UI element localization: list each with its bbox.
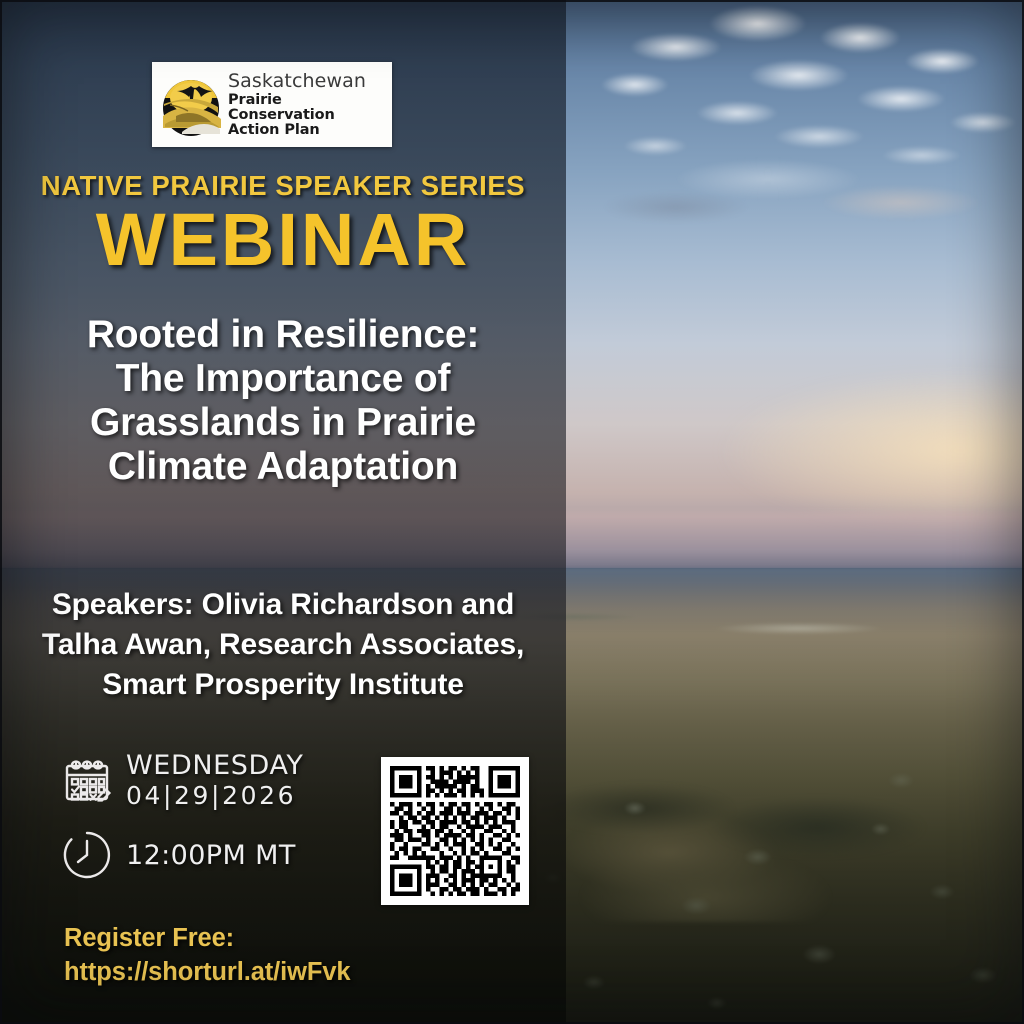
qr-code[interactable] — [381, 757, 529, 905]
calendar-icon — [62, 756, 112, 806]
title-line-1: Rooted in Resilience: — [24, 313, 542, 357]
webinar-poster: Saskatchewan Prairie Conservation Action… — [0, 0, 1024, 1024]
clock-icon — [62, 830, 112, 880]
time-row: 12:00PM MT — [62, 830, 304, 880]
logo-line-saskatchewan: Saskatchewan — [228, 72, 386, 91]
logo-wordmark: Saskatchewan Prairie Conservation Action… — [228, 72, 386, 138]
sun-glow — [717, 369, 1024, 533]
register-url[interactable]: https://shorturl.at/iwFvk — [64, 956, 351, 990]
speakers-line-1: Speakers: Olivia Richardson and — [20, 585, 546, 625]
date-text: WEDNESDAY 04|29|2026 — [126, 752, 304, 810]
registration-block[interactable]: Register Free: https://shorturl.at/iwFvk — [64, 922, 351, 989]
schedule-block: WEDNESDAY 04|29|2026 12:00PM MT — [62, 752, 304, 880]
register-label: Register Free: — [64, 922, 351, 956]
weekday-label: WEDNESDAY — [126, 750, 304, 781]
organization-logo: Saskatchewan Prairie Conservation Action… — [152, 62, 392, 147]
prairie-sun-bird-icon — [158, 72, 224, 138]
speakers-block: Speakers: Olivia Richardson and Talha Aw… — [20, 585, 546, 705]
title-line-3: Grasslands in Prairie — [24, 401, 542, 445]
event-type-heading: WEBINAR — [0, 200, 566, 280]
date-row: WEDNESDAY 04|29|2026 — [62, 752, 304, 810]
logo-line-action-plan: Action Plan — [228, 123, 386, 138]
page-title: Rooted in Resilience: The Importance of … — [24, 313, 542, 489]
time-label: 12:00PM MT — [126, 840, 296, 871]
speakers-line-3: Smart Prosperity Institute — [20, 665, 546, 705]
logo-line-prairie-conservation: Prairie Conservation — [228, 93, 386, 123]
speakers-line-2: Talha Awan, Research Associates, — [20, 625, 546, 665]
title-line-4: Climate Adaptation — [24, 445, 542, 489]
date-label: 04|29|2026 — [126, 781, 296, 810]
title-line-2: The Importance of — [24, 357, 542, 401]
poster-content: Saskatchewan Prairie Conservation Action… — [0, 0, 566, 1024]
